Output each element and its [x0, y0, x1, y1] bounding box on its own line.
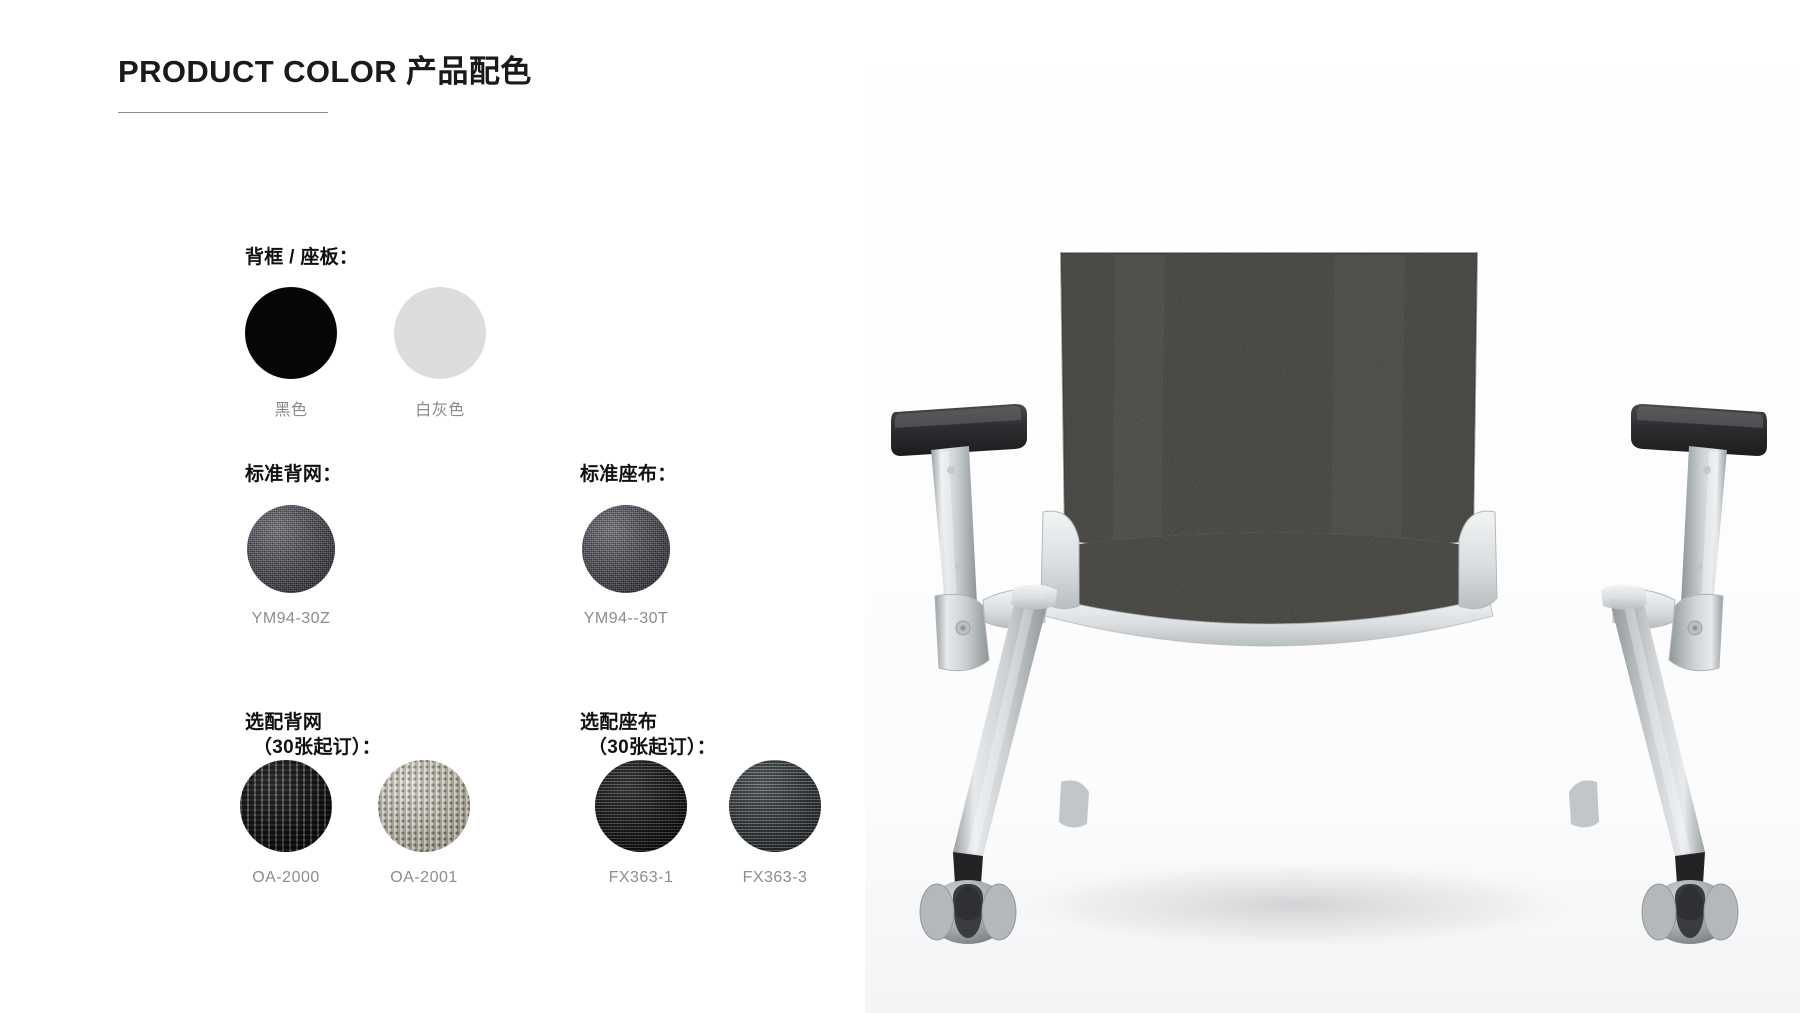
swatch-dot-black[interactable] — [245, 287, 337, 379]
group-heading-optional-seat-fabric-main: 选配座布 — [580, 712, 657, 733]
swatch-label-black: 黑色 — [274, 396, 307, 420]
swatch-group-frame-seatboard: 背框 / 座板： — [245, 245, 358, 270]
group-heading-optional-back-mesh-main: 选配背网 — [245, 712, 322, 733]
group-heading-standard-back-mesh: 标准背网： — [245, 462, 342, 487]
group-heading-optional-seat-fabric-sub: （30张起订）： — [580, 735, 716, 760]
swatch-cell-oa-2001[interactable]: OA-2001 — [378, 760, 470, 887]
swatch-label-oa-2001: OA-2001 — [390, 869, 458, 887]
swatch-cell-fx363-1[interactable]: FX363-1 — [595, 760, 687, 887]
chair-illustration — [865, 0, 1800, 1013]
swatch-dot-ym94-30t[interactable] — [582, 505, 670, 593]
swatch-group-standard-back-mesh: 标准背网： — [245, 462, 342, 487]
swatch-row-optional-seat-fabric: FX363-1 FX363-3 — [595, 760, 821, 887]
swatch-row-standard-seat-fabric: YM94--30T — [582, 505, 670, 628]
swatch-cell-black[interactable]: 黑色 — [245, 287, 337, 420]
group-heading-optional-back-mesh-sub: （30张起订）： — [245, 735, 381, 760]
swatch-dot-oa-2000[interactable] — [240, 760, 332, 852]
swatch-dot-ym94-30z[interactable] — [247, 505, 335, 593]
swatch-dot-fx363-1[interactable] — [595, 760, 687, 852]
swatch-row-frame-seatboard: 黑色 白灰色 — [245, 287, 486, 420]
swatch-dot-white-gray[interactable] — [394, 287, 486, 379]
swatch-cell-ym94-30z[interactable]: YM94-30Z — [247, 505, 335, 628]
swatch-label-fx363-1: FX363-1 — [609, 869, 674, 887]
swatch-label-white-gray: 白灰色 — [415, 396, 465, 420]
swatch-cell-ym94-30t[interactable]: YM94--30T — [582, 505, 670, 628]
swatch-row-standard-back-mesh: YM94-30Z — [247, 505, 335, 628]
color-swatch-area: 背框 / 座板： 黑色 白灰色 标准背网： YM94-30Z 标准座布： YM9… — [0, 0, 880, 1013]
chair-seat — [1045, 533, 1493, 647]
swatch-label-fx363-3: FX363-3 — [743, 869, 808, 887]
chair-backrest — [1061, 253, 1477, 553]
swatch-row-optional-back-mesh: OA-2000 OA-2001 — [240, 760, 470, 887]
swatch-dot-fx363-3[interactable] — [729, 760, 821, 852]
product-photo — [865, 0, 1800, 1013]
swatch-label-oa-2000: OA-2000 — [252, 869, 320, 887]
swatch-cell-oa-2000[interactable]: OA-2000 — [240, 760, 332, 887]
group-heading-frame-seatboard: 背框 / 座板： — [245, 245, 358, 270]
swatch-label-ym94-30z: YM94-30Z — [252, 610, 331, 628]
swatch-group-standard-seat-fabric: 标准座布： — [580, 462, 677, 487]
swatch-cell-fx363-3[interactable]: FX363-3 — [729, 760, 821, 887]
group-heading-standard-seat-fabric: 标准座布： — [580, 462, 677, 487]
swatch-cell-white-gray[interactable]: 白灰色 — [394, 287, 486, 420]
swatch-label-ym94-30t: YM94--30T — [584, 610, 669, 628]
swatch-dot-oa-2001[interactable] — [378, 760, 470, 852]
